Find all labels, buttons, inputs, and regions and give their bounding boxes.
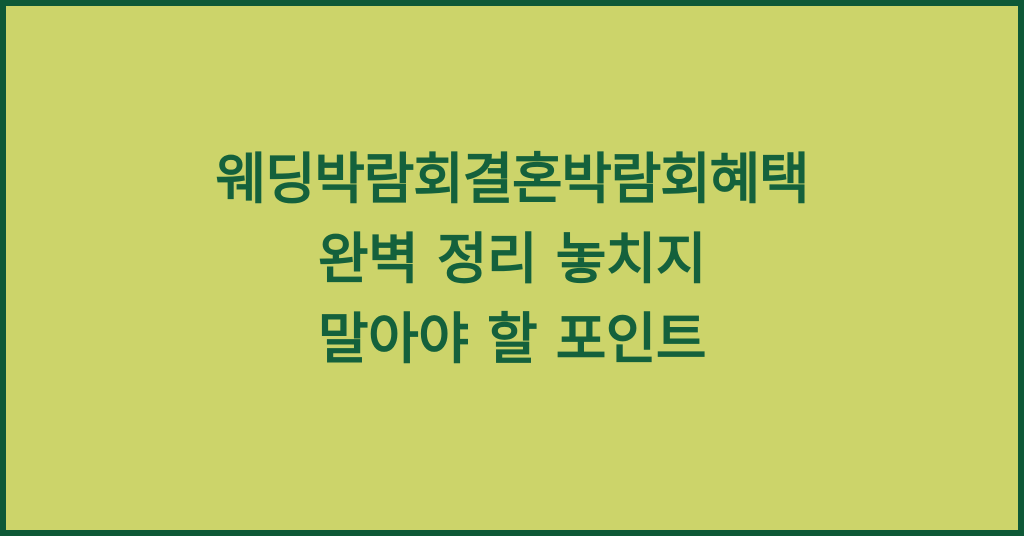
banner-card: 웨딩박람회결혼박람회혜택 완벽 정리 놓치지 말아야 할 포인트 [0,0,1024,536]
page-title: 웨딩박람회결혼박람회혜택 완벽 정리 놓치지 말아야 할 포인트 [6,139,1018,379]
title-line-1: 웨딩박람회결혼박람회혜택 [6,139,1018,219]
title-line-3: 말아야 할 포인트 [6,299,1018,379]
title-line-2: 완벽 정리 놓치지 [6,219,1018,299]
